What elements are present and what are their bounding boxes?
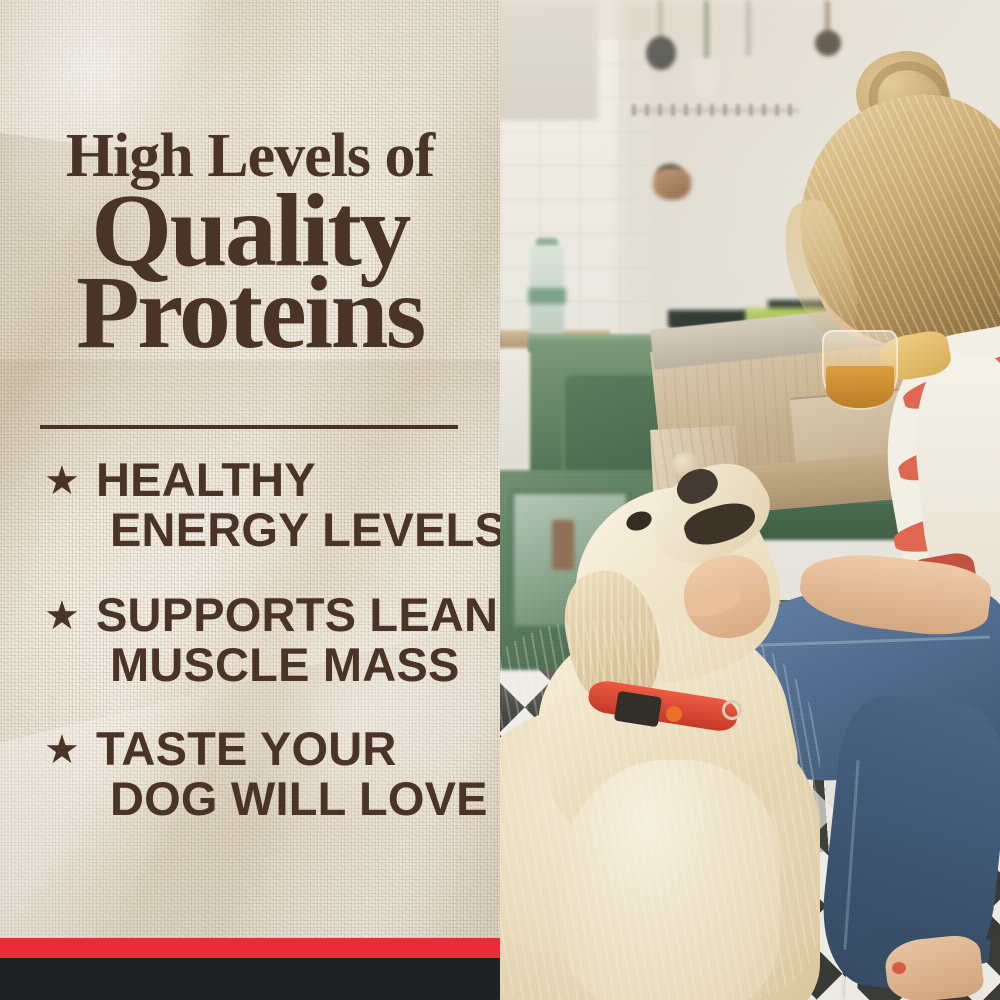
benefit-line-2: DOG WILL LOVE [110,774,488,824]
page-title: High Levels of Quality Proteins [0,128,500,360]
list-item: ★ SUPPORTS LEAN MUSCLE MASS [0,590,500,691]
star-icon: ★ [44,461,80,501]
benefit-line-1: HEALTHY [96,455,500,505]
benefit-line-1: SUPPORTS LEAN [96,590,498,640]
benefit-text: TASTE YOUR DOG WILL LOVE [96,724,488,825]
footer-red-bar [0,938,500,958]
benefits-list: ★ HEALTHY ENERGY LEVELS ★ SUPPORTS LEAN … [0,455,500,859]
benefit-text: SUPPORTS LEAN MUSCLE MASS [96,590,498,691]
burlap-text-panel: High Levels of Quality Proteins ★ HEALTH… [0,0,500,1000]
list-item: ★ HEALTHY ENERGY LEVELS [0,455,500,556]
promo-canvas: High Levels of Quality Proteins ★ HEALTH… [0,0,1000,1000]
benefit-line-2: ENERGY LEVELS [110,505,500,555]
star-icon: ★ [44,596,80,636]
golden-retriever-dog [500,0,1000,1000]
list-item: ★ TASTE YOUR DOG WILL LOVE [0,724,500,825]
benefit-line-1: TASTE YOUR [96,724,488,774]
benefit-text: HEALTHY ENERGY LEVELS [96,455,500,556]
title-divider-rule [40,425,458,429]
benefit-line-2: MUSCLE MASS [110,640,498,690]
headline-line-3: Proteins [0,265,500,361]
footer-black-bar [0,958,500,1000]
lifestyle-photo [500,0,1000,1000]
star-icon: ★ [44,730,80,770]
left-panel-content: High Levels of Quality Proteins ★ HEALTH… [0,0,500,1000]
dog-fur-texture [500,620,820,1000]
